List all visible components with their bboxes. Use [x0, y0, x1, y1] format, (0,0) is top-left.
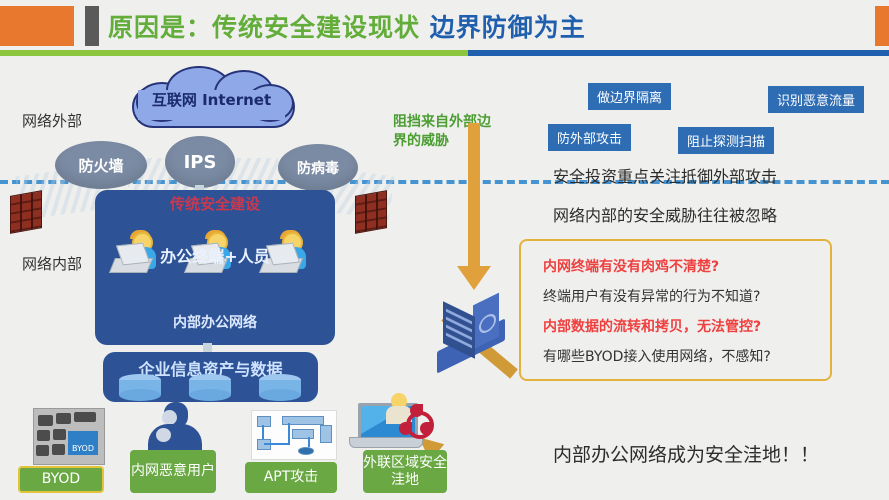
question-line-1: 内网终端有没有肉鸡不清楚?: [543, 252, 830, 282]
header-orange-block-left: [0, 6, 74, 46]
byod-keycap-label: BYOD: [68, 431, 98, 455]
device-antivirus-label: 防病毒: [297, 158, 339, 178]
page-title-green: 原因是：传统安全建设现状: [108, 13, 420, 42]
tag-boundary-isolation[interactable]: 做边界隔离: [588, 83, 671, 110]
firewall-brick-icon-right: [355, 190, 387, 234]
internal-network-label: 内部办公网络: [95, 312, 335, 332]
question-line-4: 有哪些BYOD接入使用网络，不感知?: [543, 342, 830, 372]
page-title: 原因是：传统安全建设现状 边界防御为主: [108, 8, 586, 44]
firewall-brick-icon-left: [10, 190, 42, 234]
label-external-zone-lowland[interactable]: 外联区域安全洼地: [363, 450, 447, 493]
downward-arrow-shaft: [468, 123, 480, 271]
device-firewall-label: 防火墙: [78, 155, 123, 176]
traditional-security-overlay-text: 传统安全建设: [120, 193, 310, 214]
database-cylinder-1: [119, 374, 161, 400]
label-internal-malicious-user[interactable]: 内网恶意用户: [130, 450, 216, 493]
label-byod[interactable]: BYOD: [18, 466, 104, 493]
question-line-2: 终端用户有没有异常的行为不知道?: [543, 282, 830, 312]
question-line-3: 内部数据的流转和拷贝，无法管控?: [543, 312, 830, 342]
header-rule-green: [0, 50, 468, 56]
byod-keyboard-icon: BYOD: [33, 408, 105, 465]
header-rule-blue: [468, 50, 889, 56]
zone-label-inside: 网络内部: [22, 253, 82, 274]
conclusion-text: 内部办公网络成为安全洼地！！: [553, 440, 819, 467]
label-apt-attack[interactable]: APT攻击: [245, 462, 337, 493]
tag-prevent-external-attack[interactable]: 防外部攻击: [548, 124, 631, 151]
virus-warning-icon: [399, 404, 433, 438]
internet-cloud-icon: 互联网 Internet: [130, 64, 293, 126]
header-orange-block-right: [875, 6, 889, 46]
internal-threats-ignored-text: 网络内部的安全威胁往往被忽略: [553, 202, 777, 226]
internet-cloud-label: 互联网 Internet: [130, 64, 293, 126]
slide-canvas: 原因是：传统安全建设现状 边界防御为主 网络外部 网络内部 互联网 Intern…: [0, 0, 889, 500]
device-ips[interactable]: IPS: [165, 136, 235, 188]
internal-risk-question-box: 内网终端有没有肉鸡不清楚? 终端用户有没有异常的行为不知道? 内部数据的流转和拷…: [519, 239, 832, 381]
datacenter-server-icon: [437, 295, 505, 367]
zone-label-outside: 网络外部: [22, 110, 82, 131]
device-antivirus[interactable]: 防病毒: [278, 144, 358, 191]
office-terminals-label: 办公终端+人员: [95, 243, 335, 267]
security-investment-focus-text: 安全投资重点关注抵御外部攻击: [553, 163, 777, 187]
malicious-user-icon: [142, 402, 204, 452]
header-gray-tab: [85, 6, 99, 46]
tag-block-probe-scan[interactable]: 阻止探测扫描: [678, 127, 774, 154]
tag-identify-malicious-traffic[interactable]: 识别恶意流量: [768, 86, 864, 113]
page-title-blue: 边界防御为主: [430, 13, 586, 42]
device-firewall[interactable]: 防火墙: [55, 141, 147, 189]
device-ips-label: IPS: [184, 152, 217, 173]
database-cylinder-2: [189, 374, 231, 400]
downward-arrow-head: [457, 266, 491, 290]
apt-attack-diagram-icon: [251, 410, 337, 460]
database-cylinder-3: [259, 374, 301, 400]
enterprise-assets-box: 企业信息资产与数据: [103, 352, 318, 402]
